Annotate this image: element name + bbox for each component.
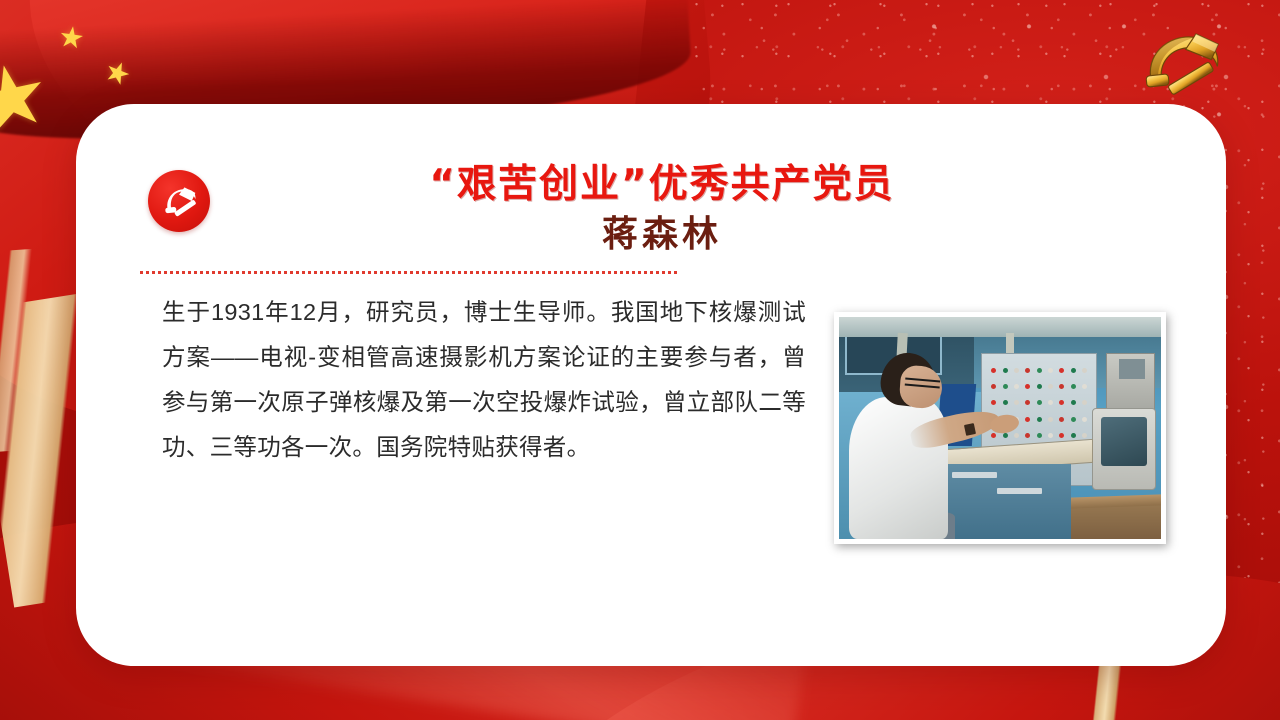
panel-switch-indicator [1003,433,1008,438]
panel-switch-indicator [1048,368,1053,373]
panel-switch-indicator [1025,400,1030,405]
panel-switch-indicator [991,368,996,373]
panel-switch-indicator [1014,384,1019,389]
content-row: 生于1931年12月，研究员，博士生导师。我国地下核爆测试方案——电视-变相管高… [140,290,1162,544]
title-text-group: “艰苦创业”优秀共产党员 蒋森林 [210,162,1162,257]
panel-switch-indicator [1037,400,1042,405]
flag-star-small-2: ★ [100,56,135,93]
panel-switch-indicator [1014,368,1019,373]
page-title: “艰苦创业”优秀共产党员 [210,162,1114,208]
panel-switch-indicator [1003,368,1008,373]
panel-switch-indicator [1059,433,1064,438]
title-block: “艰苦创业”优秀共产党员 蒋森林 [140,162,1162,257]
panel-switch-indicator [991,384,996,389]
panel-switch-indicator [1082,368,1087,373]
panel-switch-indicator [1071,368,1076,373]
panel-switch-indicator [1071,400,1076,405]
panel-switch-indicator [991,433,996,438]
panel-switch-indicator [1003,384,1008,389]
panel-switch-indicator [1082,433,1087,438]
panel-switch-indicator [1071,417,1076,422]
biography-text: 生于1931年12月，研究员，博士生导师。我国地下核爆测试方案——电视-变相管高… [140,290,812,544]
panel-switch-indicator [1037,417,1042,422]
panel-switch-indicator [1071,384,1076,389]
panel-switch-indicator [1082,384,1087,389]
panel-switch-indicator [1059,417,1064,422]
panel-switch-indicator [1048,384,1053,389]
panel-switch-indicator [1059,368,1064,373]
panel-switch-indicator [1014,400,1019,405]
panel-switch-indicator [1082,400,1087,405]
panel-switch-indicator [1025,417,1030,422]
flag-star-small-1: ★ [56,23,86,55]
panel-switch-indicator [1071,433,1076,438]
panel-switch-indicator [991,400,996,405]
panel-switch-indicator [1048,417,1053,422]
panel-switch-indicator [1003,400,1008,405]
cpc-hammer-sickle-emblem-gold-icon [1132,22,1236,104]
panel-switch-indicator [1048,400,1053,405]
panel-switch-indicator [1059,400,1064,405]
content-card: “艰苦创业”优秀共产党员 蒋森林 生于1931年12月，研究员，博士生导师。我国… [76,104,1226,666]
panel-switch-indicator [1025,368,1030,373]
panel-switch-indicator [1082,417,1087,422]
portrait-photo-frame [834,312,1166,544]
cpc-party-badge-icon [148,170,210,232]
person-name: 蒋森林 [210,212,1114,257]
panel-switch-indicator [1037,384,1042,389]
panel-switch-indicator [1025,433,1030,438]
portrait-photo [839,317,1161,539]
dotted-divider [140,271,680,274]
panel-switch-indicator [1025,384,1030,389]
panel-switch-indicator [1037,368,1042,373]
panel-switch-indicator [1037,433,1042,438]
panel-switch-indicator [1048,433,1053,438]
panel-switch-indicator [1014,433,1019,438]
panel-switch-indicator [1059,384,1064,389]
flag-star-large: ★ [0,48,57,148]
